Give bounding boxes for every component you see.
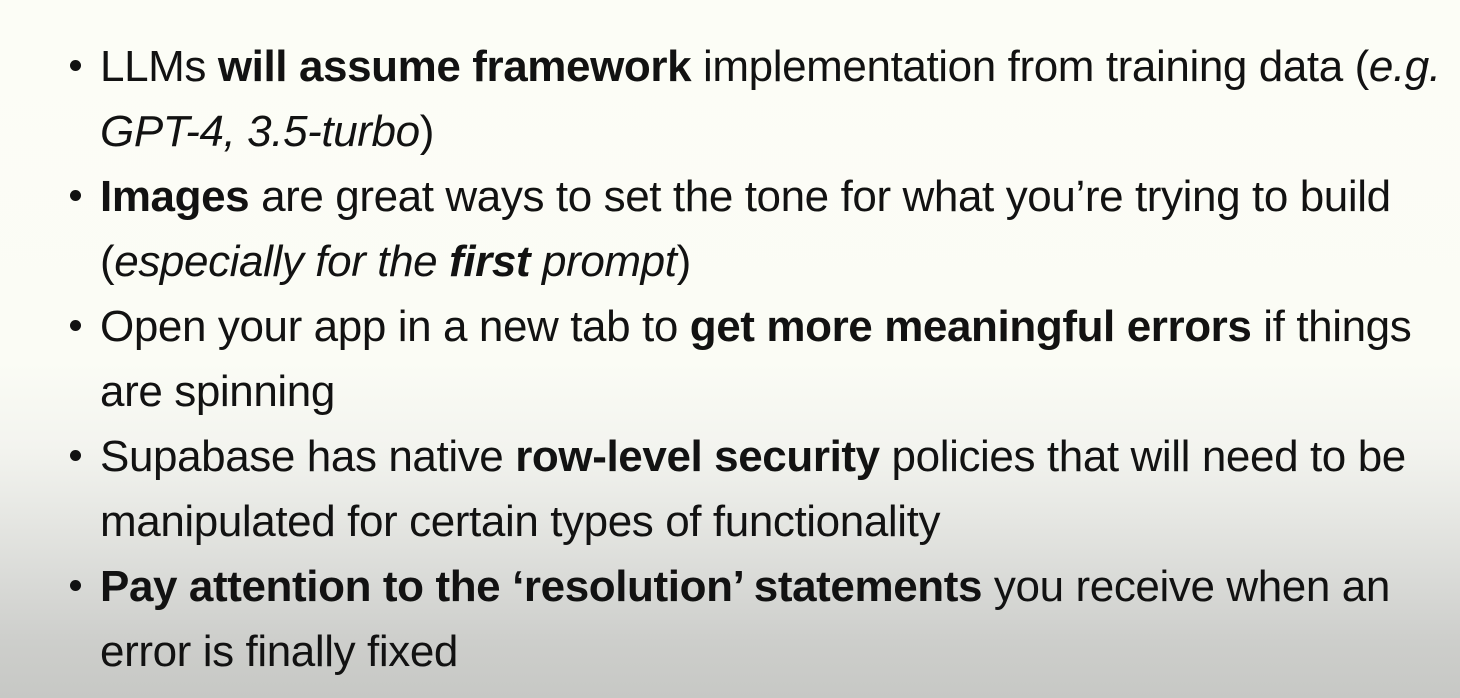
text-run: get more meaningful errors (690, 302, 1252, 351)
text-run: row-level security (515, 432, 880, 481)
bullet-dot-icon (70, 190, 81, 201)
text-run: ) (677, 237, 691, 286)
text-run: first (449, 237, 530, 286)
text-run: implementation from training data ( (691, 42, 1369, 91)
bullet-text: Images are great ways to set the tone fo… (100, 164, 1442, 294)
bullet-dot-icon (70, 320, 81, 331)
list-item: Pay attention to the ‘resolution’ statem… (70, 554, 1442, 684)
bullet-text: Pay attention to the ‘resolution’ statem… (100, 554, 1442, 684)
text-run: prompt (530, 237, 676, 286)
bullet-text: Open your app in a new tab to get more m… (100, 294, 1442, 424)
text-run: will assume framework (218, 42, 691, 91)
bullet-text: Supabase has native row-level security p… (100, 424, 1442, 554)
list-item: Supabase has native row-level security p… (70, 424, 1442, 554)
bullet-dot-icon (70, 580, 81, 591)
text-run: Open your app in a new tab to (100, 302, 690, 351)
bullet-list: LLMs will assume framework implementatio… (70, 34, 1442, 684)
presentation-slide: LLMs will assume framework implementatio… (0, 0, 1460, 698)
text-run: LLMs (100, 42, 218, 91)
list-item: Images are great ways to set the tone fo… (70, 164, 1442, 294)
bullet-text: LLMs will assume framework implementatio… (100, 34, 1442, 164)
list-item: LLMs will assume framework implementatio… (70, 34, 1442, 164)
text-run: Supabase has native (100, 432, 515, 481)
list-item: Open your app in a new tab to get more m… (70, 294, 1442, 424)
text-run: especially for the (114, 237, 449, 286)
bullet-dot-icon (70, 60, 81, 71)
bullet-dot-icon (70, 450, 81, 461)
text-run: ) (420, 107, 434, 156)
text-run: Pay attention to the ‘resolution’ statem… (100, 562, 982, 611)
text-run: Images (100, 172, 249, 221)
